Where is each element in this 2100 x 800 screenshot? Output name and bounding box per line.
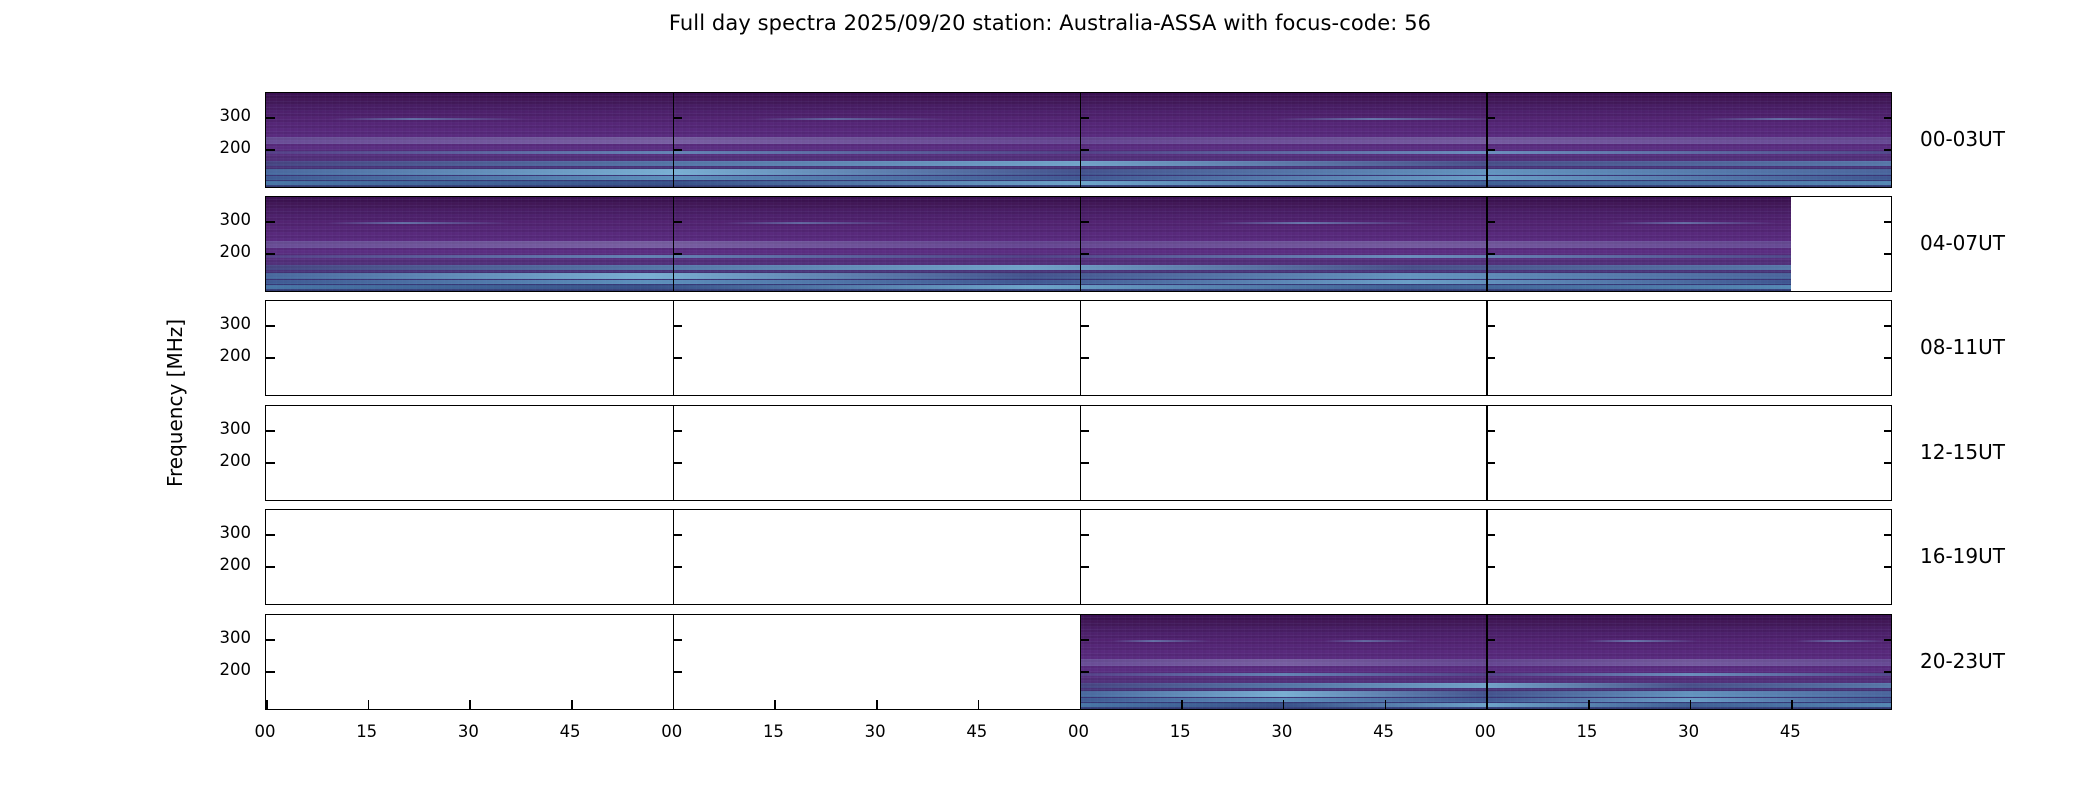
y-axis-tick — [1080, 117, 1089, 119]
hour-separator — [673, 615, 675, 709]
x-axis-tick — [1791, 700, 1793, 709]
panel-time-label: 00-03UT — [1920, 127, 2005, 151]
y-axis-tick — [1080, 221, 1089, 223]
y-axis-tick — [266, 325, 275, 327]
x-axis-tick-label: 30 — [1271, 722, 1292, 741]
spectrogram-panel-16-19ut[interactable] — [265, 509, 1892, 605]
y-axis-tick-label: 200 — [220, 242, 252, 261]
x-axis-tick-label: 45 — [1373, 722, 1394, 741]
x-axis-tick — [1283, 700, 1285, 709]
x-axis-tick — [1080, 700, 1082, 709]
y-axis-tick — [1884, 117, 1892, 119]
y-axis-tick — [673, 253, 682, 255]
y-axis-tick-label: 300 — [220, 523, 252, 542]
emission-band — [266, 222, 1791, 224]
hour-separator — [673, 406, 675, 500]
y-axis-tick — [673, 430, 682, 432]
hour-separator — [1486, 615, 1488, 709]
page-title: Full day spectra 2025/09/20 station: Aus… — [0, 11, 2100, 35]
x-axis-tick-label: 00 — [1068, 722, 1089, 741]
x-axis-tick — [469, 700, 471, 709]
spectrogram-figure: Full day spectra 2025/09/20 station: Aus… — [0, 0, 2100, 800]
y-axis-tick — [673, 671, 682, 673]
y-axis-tick — [1884, 430, 1892, 432]
y-axis-tick-label: 300 — [220, 106, 252, 125]
y-axis-tick-label: 200 — [220, 138, 252, 157]
y-axis-tick — [1080, 253, 1089, 255]
hour-separator — [673, 510, 675, 604]
hour-separator — [1486, 197, 1488, 291]
hour-separator — [1080, 197, 1082, 291]
x-axis-tick-label: 45 — [560, 722, 581, 741]
y-axis-tick — [266, 253, 275, 255]
hour-separator — [1080, 510, 1082, 604]
y-axis-tick — [1486, 325, 1495, 327]
spectrogram-data — [266, 197, 1791, 291]
x-axis-tick-label: 45 — [966, 722, 987, 741]
y-axis-tick — [266, 671, 275, 673]
y-axis-tick — [266, 117, 275, 119]
x-axis-tick — [978, 700, 980, 709]
y-axis-tick — [673, 325, 682, 327]
y-axis-tick — [1884, 639, 1892, 641]
x-axis-tick-label: 15 — [356, 722, 377, 741]
x-axis-tick-labels: 00153045001530450015304500153045 — [265, 722, 1892, 748]
y-axis-tick — [1080, 462, 1089, 464]
spectrogram-panel-12-15ut[interactable] — [265, 405, 1892, 501]
y-axis-tick — [673, 534, 682, 536]
hour-separator — [1080, 93, 1082, 187]
y-axis-tick-label: 300 — [220, 314, 252, 333]
x-axis-tick-label: 00 — [661, 722, 682, 741]
y-axis-tick — [1884, 149, 1892, 151]
y-axis-tick — [266, 221, 275, 223]
x-axis-tick — [1181, 700, 1183, 709]
x-axis-tick — [368, 700, 370, 709]
y-axis-tick-label: 200 — [220, 660, 252, 679]
y-axis-tick-label: 300 — [220, 628, 252, 647]
y-axis-tick — [1080, 671, 1089, 673]
y-axis-tick — [1486, 149, 1495, 151]
emission-band — [266, 265, 1791, 270]
emission-band — [266, 255, 1791, 258]
y-axis-tick — [1486, 639, 1495, 641]
spectrogram-panel-04-07ut[interactable] — [265, 196, 1892, 292]
x-axis-tick — [1588, 700, 1590, 709]
spectrogram-panel-08-11ut[interactable] — [265, 300, 1892, 396]
y-axis-tick — [1080, 534, 1089, 536]
panel-time-label: 16-19UT — [1920, 544, 2005, 568]
y-axis-tick — [673, 462, 682, 464]
x-axis-tick-label: 00 — [255, 722, 276, 741]
y-axis-tick — [1486, 357, 1495, 359]
x-axis-tick — [1385, 700, 1387, 709]
y-axis-tick — [673, 357, 682, 359]
emission-band — [266, 285, 1791, 289]
y-axis-tick — [1486, 221, 1495, 223]
y-axis-tick — [1884, 253, 1892, 255]
x-axis-tick — [876, 700, 878, 709]
x-axis-tick-label: 30 — [1678, 722, 1699, 741]
y-axis-tick — [1486, 462, 1495, 464]
y-axis-tick-label: 300 — [220, 210, 252, 229]
y-axis-tick — [673, 566, 682, 568]
y-axis-tick — [1080, 430, 1089, 432]
panel-stack: 30020000-03UT30020004-07UT30020008-11UT3… — [265, 92, 1892, 714]
hour-separator — [673, 197, 675, 291]
y-axis-tick — [1486, 566, 1495, 568]
y-axis-tick-label: 300 — [220, 419, 252, 438]
spectrogram-panel-20-23ut[interactable] — [265, 614, 1892, 710]
x-axis-tick-label: 00 — [1475, 722, 1496, 741]
panel-time-label: 04-07UT — [1920, 231, 2005, 255]
x-axis-tick — [1690, 700, 1692, 709]
y-axis-tick — [1486, 430, 1495, 432]
hour-separator — [1486, 93, 1488, 187]
y-axis-tick — [1884, 671, 1892, 673]
y-axis-tick — [673, 221, 682, 223]
y-axis-title: Frequency [MHz] — [163, 319, 187, 487]
x-axis-tick — [1486, 700, 1488, 709]
panel-time-label: 20-23UT — [1920, 649, 2005, 673]
y-axis-tick — [266, 430, 275, 432]
hour-separator — [1080, 301, 1082, 395]
y-axis-tick — [1486, 534, 1495, 536]
y-axis-tick — [1486, 253, 1495, 255]
hour-separator — [673, 301, 675, 395]
y-axis-tick — [1080, 357, 1089, 359]
y-axis-tick — [266, 357, 275, 359]
hour-separator — [673, 93, 675, 187]
y-axis-tick — [266, 566, 275, 568]
y-axis-tick — [1884, 221, 1892, 223]
x-axis-tick — [266, 700, 268, 709]
hour-separator — [1486, 301, 1488, 395]
x-axis-tick-label: 15 — [1170, 722, 1191, 741]
panel-time-label: 08-11UT — [1920, 335, 2005, 359]
y-axis-tick-label: 200 — [220, 346, 252, 365]
y-axis-tick — [266, 534, 275, 536]
x-axis-tick — [673, 700, 675, 709]
hour-separator — [1080, 406, 1082, 500]
hour-separator — [1080, 615, 1082, 709]
x-axis-tick-label: 45 — [1780, 722, 1801, 741]
y-axis-tick — [1080, 639, 1089, 641]
y-axis-tick — [1884, 357, 1892, 359]
y-axis-tick — [266, 639, 275, 641]
y-axis-tick — [1884, 325, 1892, 327]
y-axis-tick — [266, 462, 275, 464]
y-axis-tick — [1486, 671, 1495, 673]
y-axis-tick — [673, 117, 682, 119]
x-axis-tick-label: 30 — [865, 722, 886, 741]
emission-band — [266, 273, 1791, 279]
y-axis-tick — [1486, 117, 1495, 119]
y-axis-tick — [673, 149, 682, 151]
y-axis-tick-label: 200 — [220, 451, 252, 470]
y-axis-tick — [1884, 566, 1892, 568]
y-axis-tick — [266, 149, 275, 151]
x-axis-tick-label: 15 — [763, 722, 784, 741]
emission-band — [266, 241, 1791, 248]
y-axis-tick-label: 200 — [220, 555, 252, 574]
x-axis-tick-label: 30 — [458, 722, 479, 741]
y-axis-tick — [1080, 566, 1089, 568]
spectrogram-panel-00-03ut[interactable] — [265, 92, 1892, 188]
x-axis-tick-label: 15 — [1576, 722, 1597, 741]
emission-band — [266, 280, 1791, 284]
y-axis-tick — [1884, 534, 1892, 536]
y-axis-tick — [1080, 325, 1089, 327]
x-axis-tick — [571, 700, 573, 709]
y-axis-tick — [1080, 149, 1089, 151]
x-axis-tick — [774, 700, 776, 709]
panel-time-label: 12-15UT — [1920, 440, 2005, 464]
y-axis-tick — [673, 639, 682, 641]
hour-separator — [1486, 406, 1488, 500]
y-axis-tick — [1884, 462, 1892, 464]
hour-separator — [1486, 510, 1488, 604]
